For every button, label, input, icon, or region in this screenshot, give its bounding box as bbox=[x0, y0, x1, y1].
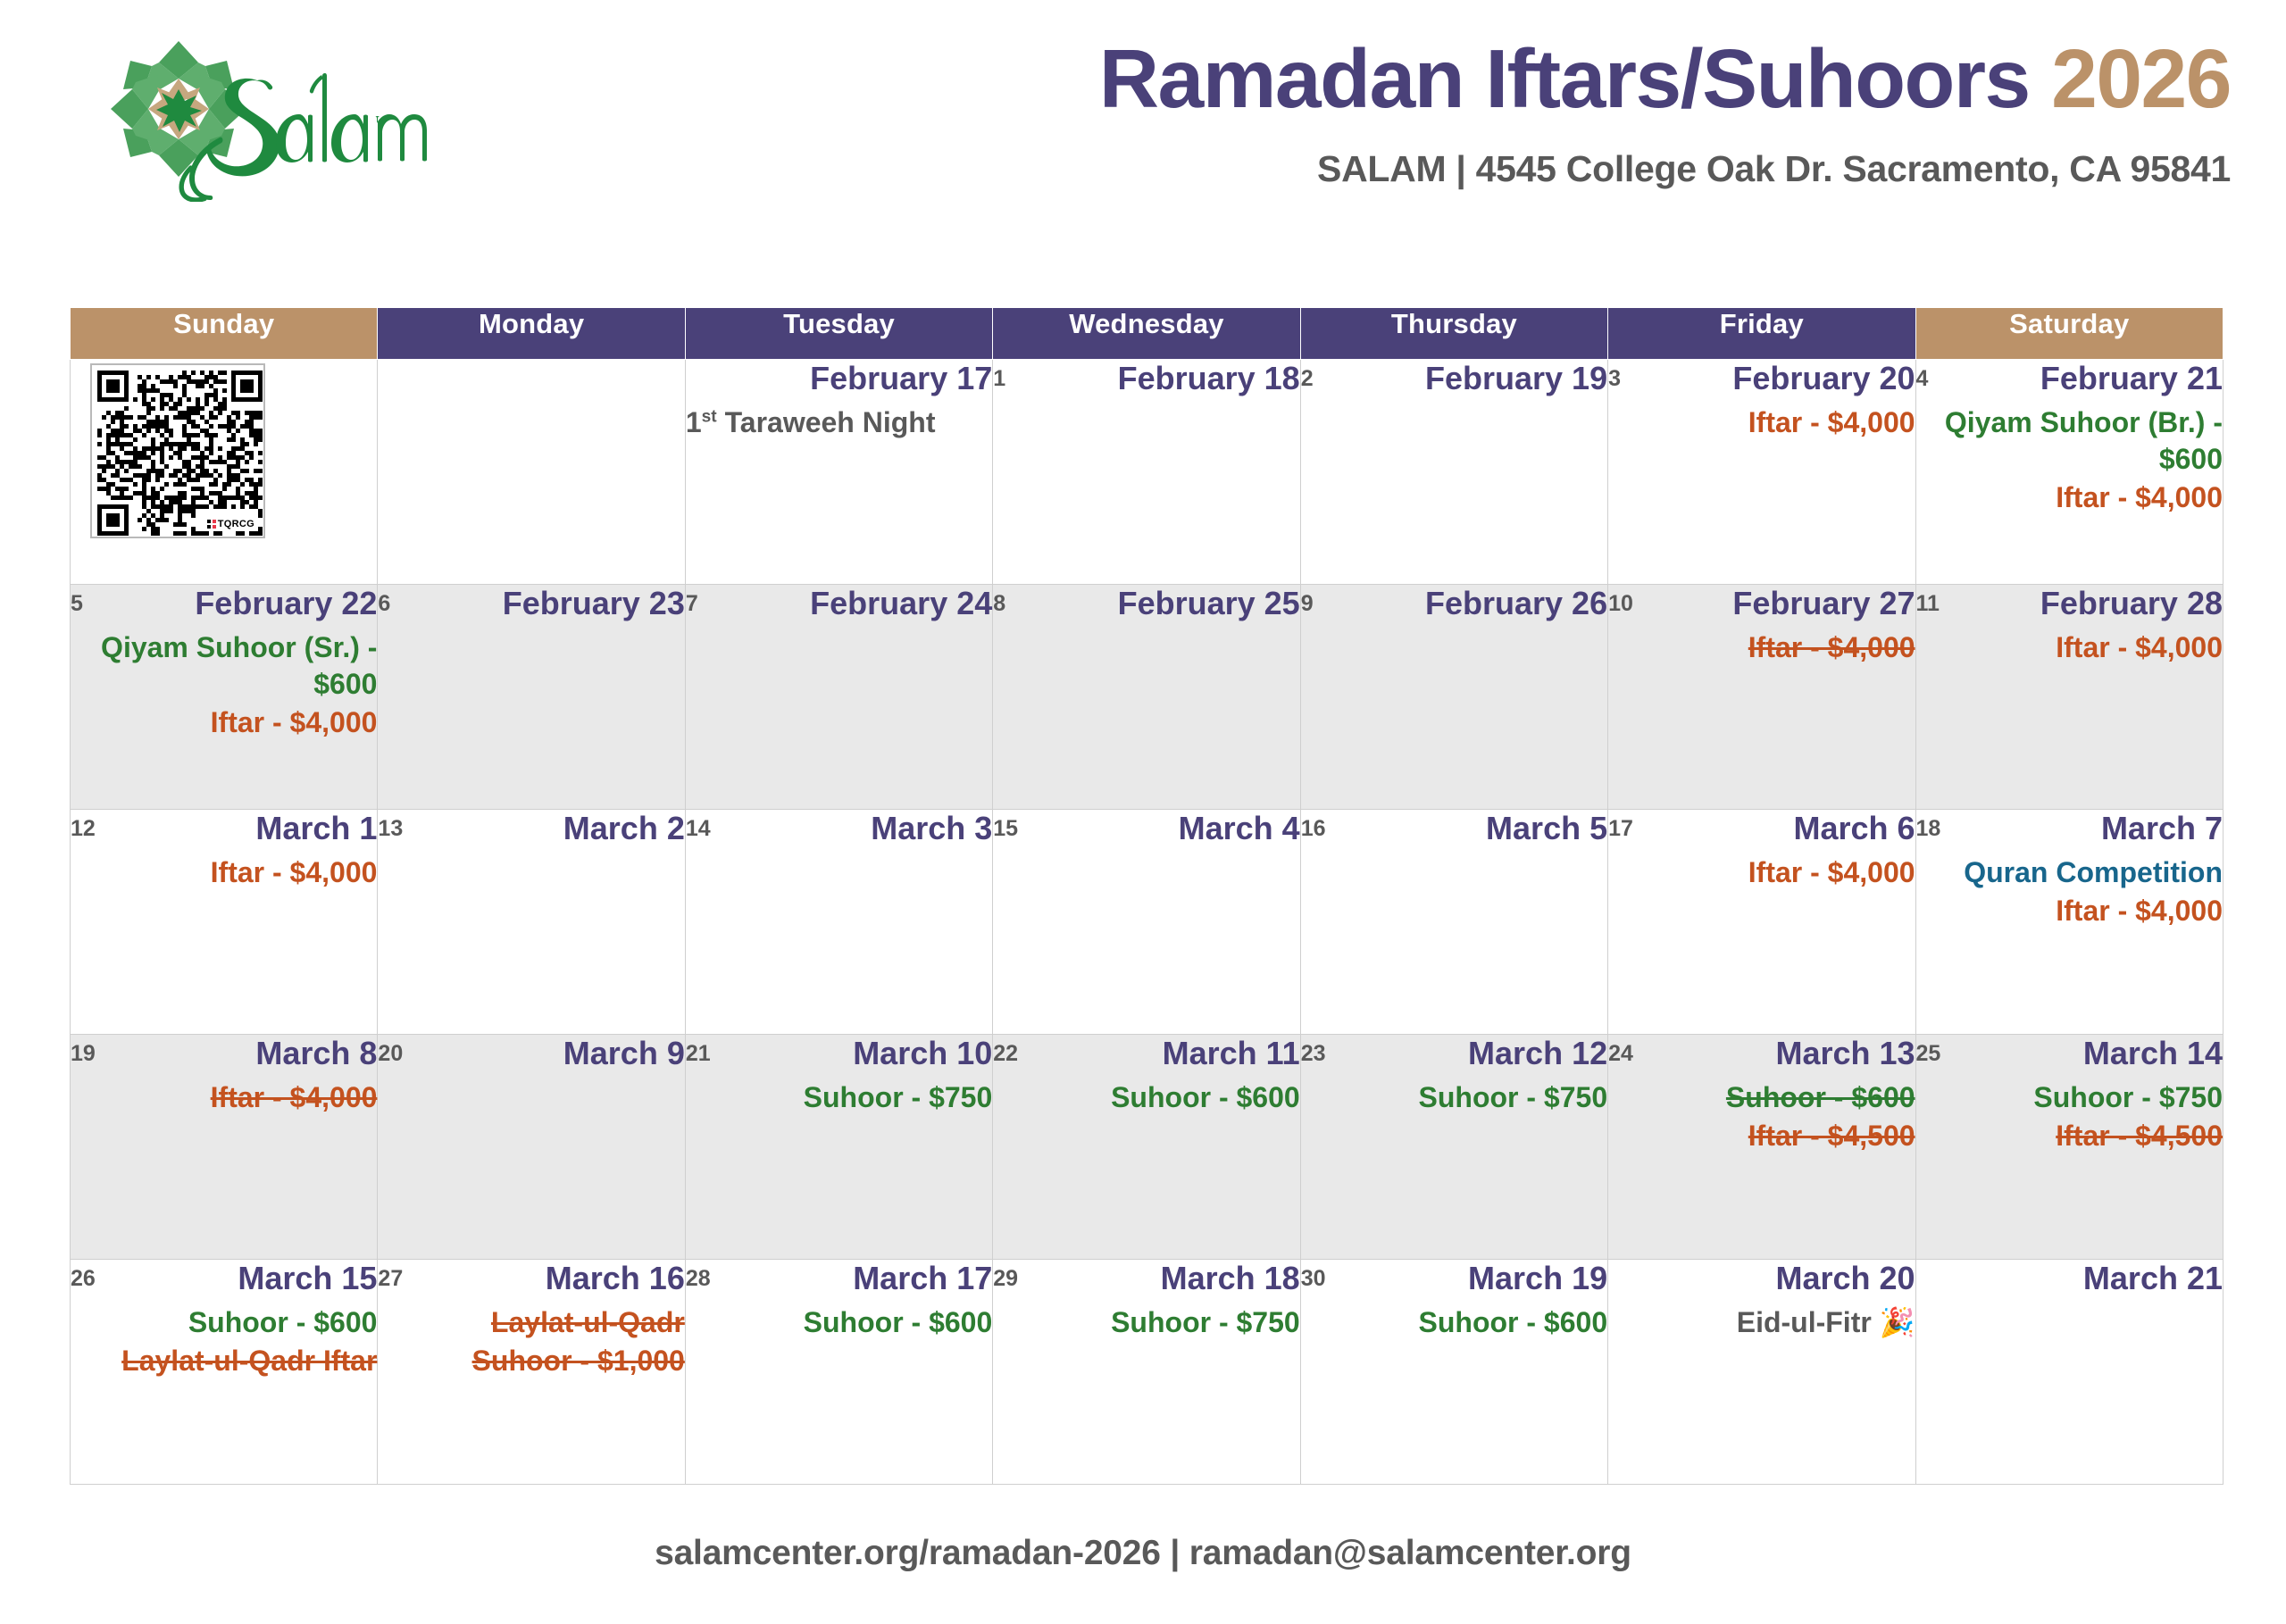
calendar-week-row: TQRCGFebruary 171st Taraweeh Night1Febru… bbox=[71, 360, 2223, 585]
calendar-body: TQRCGFebruary 171st Taraweeh Night1Febru… bbox=[71, 360, 2223, 1485]
event-iftar: Iftar - $4,500 bbox=[1916, 1118, 2223, 1154]
day-events: Suhoor - $600Iftar - $4,500 bbox=[1608, 1079, 1915, 1154]
day-cell-header: 24March 13 bbox=[1608, 1035, 1915, 1074]
event-suhoor: Qiyam Suhoor (Sr.) - $600 bbox=[71, 629, 377, 703]
ramadan-day-number: 19 bbox=[71, 1035, 96, 1068]
calendar-day-cell[interactable] bbox=[378, 360, 685, 585]
event-iftar: Iftar - $4,000 bbox=[1916, 629, 2223, 666]
event-suhoor: Suhoor - $600 bbox=[1301, 1304, 1607, 1341]
day-header-friday: Friday bbox=[1608, 308, 1915, 360]
calendar-date-label: March 14 bbox=[1940, 1035, 2223, 1071]
ramadan-day-number: 7 bbox=[686, 585, 698, 618]
event-iftar: Suhoor - $1,000 bbox=[378, 1343, 684, 1379]
calendar-day-cell[interactable]: 8February 25 bbox=[993, 585, 1300, 810]
day-cell-header: 21March 10 bbox=[686, 1035, 992, 1074]
calendar-day-cell[interactable]: 15March 4 bbox=[993, 810, 1300, 1035]
day-cell-header: 1February 18 bbox=[993, 360, 1299, 399]
venue-address: SALAM | 4545 College Oak Dr. Sacramento,… bbox=[1099, 151, 2231, 187]
event-iftar: Laylat-ul-Qadr Iftar bbox=[71, 1343, 377, 1379]
event-iftar: Iftar - $4,000 bbox=[1608, 629, 1915, 666]
calendar-day-cell[interactable]: 18March 7Quran CompetitionIftar - $4,000 bbox=[1915, 810, 2223, 1035]
calendar-date-label: March 18 bbox=[1018, 1260, 1300, 1296]
day-cell-header: 26March 15 bbox=[71, 1260, 377, 1299]
calendar-date-label: March 19 bbox=[1326, 1260, 1608, 1296]
calendar-day-cell[interactable]: 23March 12Suhoor - $750 bbox=[1300, 1035, 1607, 1260]
event-iftar: Iftar - $4,000 bbox=[1608, 404, 1915, 441]
calendar-date-label: February 19 bbox=[1314, 360, 1608, 396]
calendar-day-cell[interactable]: 13March 2 bbox=[378, 810, 685, 1035]
event-suhoor: Suhoor - $750 bbox=[686, 1079, 992, 1116]
calendar-day-cell[interactable]: 7February 24 bbox=[685, 585, 992, 810]
calendar-day-cell[interactable]: 11February 28Iftar - $4,000 bbox=[1915, 585, 2223, 810]
ramadan-day-number: 14 bbox=[686, 810, 711, 843]
calendar-day-cell[interactable]: 27March 16Laylat-ul-QadrSuhoor - $1,000 bbox=[378, 1260, 685, 1485]
ramadan-day-number: 26 bbox=[71, 1260, 96, 1293]
ramadan-day-number: 2 bbox=[1301, 360, 1314, 393]
calendar-date-label: February 17 bbox=[686, 360, 992, 396]
calendar-date-label: March 7 bbox=[1940, 810, 2223, 846]
day-cell-header: 25March 14 bbox=[1916, 1035, 2223, 1074]
day-cell-header: 13March 2 bbox=[378, 810, 684, 849]
qr-code-label: TQRCG bbox=[205, 519, 256, 530]
ramadan-calendar-page: Ramadan Iftars/Suhoors 2026 SALAM | 4545… bbox=[0, 0, 2286, 1624]
calendar-day-cell[interactable]: 6February 23 bbox=[378, 585, 685, 810]
event-iftar: Iftar - $4,000 bbox=[71, 854, 377, 891]
day-events: Iftar - $4,000 bbox=[1916, 629, 2223, 666]
day-events: Suhoor - $600 bbox=[686, 1304, 992, 1341]
day-events: Iftar - $4,000 bbox=[71, 854, 377, 891]
ramadan-day-number: 29 bbox=[993, 1260, 1018, 1293]
page-title-year: 2026 bbox=[2051, 32, 2231, 125]
calendar-day-cell[interactable]: 24March 13Suhoor - $600Iftar - $4,500 bbox=[1608, 1035, 1915, 1260]
ramadan-day-number: 11 bbox=[1916, 585, 1940, 618]
event-suhoor: Suhoor - $750 bbox=[1916, 1079, 2223, 1116]
qr-code-icon[interactable]: TQRCG bbox=[90, 363, 265, 538]
day-cell-header: 4February 21 bbox=[1916, 360, 2223, 399]
ramadan-day-number: 12 bbox=[71, 810, 96, 843]
event-note: 1st Taraweeh Night bbox=[686, 404, 992, 441]
day-cell-header bbox=[378, 360, 684, 399]
calendar-date-label: February 22 bbox=[83, 585, 378, 621]
day-header-wednesday: Wednesday bbox=[993, 308, 1300, 360]
calendar-day-cell[interactable]: 2February 19 bbox=[1300, 360, 1607, 585]
calendar-day-cell[interactable]: 28March 17Suhoor - $600 bbox=[685, 1260, 992, 1485]
day-events: 1st Taraweeh Night bbox=[686, 404, 992, 441]
day-cell-header: February 17 bbox=[686, 360, 992, 399]
event-suhoor: Suhoor - $750 bbox=[993, 1304, 1299, 1341]
day-events: Qiyam Suhoor (Br.) - $600Iftar - $4,000 bbox=[1916, 404, 2223, 516]
calendar-date-label: March 2 bbox=[403, 810, 685, 846]
calendar-day-cell[interactable]: 9February 26 bbox=[1300, 585, 1607, 810]
day-events: Iftar - $4,000 bbox=[1608, 854, 1915, 891]
day-events: Suhoor - $750Iftar - $4,500 bbox=[1916, 1079, 2223, 1154]
day-events: Suhoor - $750 bbox=[686, 1079, 992, 1116]
calendar-date-label: March 9 bbox=[403, 1035, 685, 1071]
calendar-day-cell[interactable]: 14March 3 bbox=[685, 810, 992, 1035]
calendar-day-cell[interactable]: 21March 10Suhoor - $750 bbox=[685, 1035, 992, 1260]
event-special: Quran Competition bbox=[1916, 854, 2223, 891]
day-cell-header: 28March 17 bbox=[686, 1260, 992, 1299]
calendar-date-label: February 25 bbox=[1005, 585, 1300, 621]
calendar-day-cell[interactable]: 5February 22Qiyam Suhoor (Sr.) - $600Ift… bbox=[71, 585, 378, 810]
ramadan-day-number: 1 bbox=[993, 360, 1005, 393]
calendar-date-label: February 26 bbox=[1314, 585, 1608, 621]
day-cell-header: 27March 16 bbox=[378, 1260, 684, 1299]
day-events: Eid-ul-Fitr 🎉 bbox=[1608, 1304, 1915, 1341]
calendar-day-cell[interactable]: 1February 18 bbox=[993, 360, 1300, 585]
ramadan-day-number: 10 bbox=[1608, 585, 1633, 618]
calendar-week-row: 12March 1Iftar - $4,00013March 214March … bbox=[71, 810, 2223, 1035]
day-cell-header: 19March 8 bbox=[71, 1035, 377, 1074]
day-cell-header: 6February 23 bbox=[378, 585, 684, 624]
ramadan-day-number: 16 bbox=[1301, 810, 1326, 843]
day-header-sunday: Sunday bbox=[71, 308, 378, 360]
calendar-date-label: March 6 bbox=[1633, 810, 1915, 846]
day-cell-header: 12March 1 bbox=[71, 810, 377, 849]
day-events: Suhoor - $750 bbox=[993, 1304, 1299, 1341]
page-header: Ramadan Iftars/Suhoors 2026 SALAM | 4545… bbox=[0, 0, 2286, 268]
calendar-day-cell[interactable]: 29March 18Suhoor - $750 bbox=[993, 1260, 1300, 1485]
day-events: Laylat-ul-QadrSuhoor - $1,000 bbox=[378, 1304, 684, 1379]
calendar-date-label: March 4 bbox=[1018, 810, 1300, 846]
calendar-date-label: February 27 bbox=[1633, 585, 1915, 621]
calendar-date-label: March 5 bbox=[1326, 810, 1608, 846]
calendar-header-row: SundayMondayTuesdayWednesdayThursdayFrid… bbox=[71, 308, 2223, 360]
calendar-day-cell[interactable]: 22March 11Suhoor - $600 bbox=[993, 1035, 1300, 1260]
event-iftar: Iftar - $4,000 bbox=[1608, 854, 1915, 891]
calendar-date-label: February 23 bbox=[390, 585, 685, 621]
day-cell-header: 30March 19 bbox=[1301, 1260, 1607, 1299]
event-suhoor: Suhoor - $600 bbox=[993, 1079, 1299, 1116]
ramadan-day-number: 8 bbox=[993, 585, 1005, 618]
day-cell-header: 17March 6 bbox=[1608, 810, 1915, 849]
calendar-day-cell[interactable]: 3February 20Iftar - $4,000 bbox=[1608, 360, 1915, 585]
day-cell-header: 18March 7 bbox=[1916, 810, 2223, 849]
event-suhoor: Suhoor - $600 bbox=[1608, 1079, 1915, 1116]
footer-contact: salamcenter.org/ramadan-2026 | ramadan@s… bbox=[0, 1534, 2286, 1573]
ramadan-day-number: 15 bbox=[993, 810, 1018, 843]
calendar-date-label: March 12 bbox=[1326, 1035, 1608, 1071]
day-events: Qiyam Suhoor (Sr.) - $600Iftar - $4,000 bbox=[71, 629, 377, 741]
day-header-tuesday: Tuesday bbox=[685, 308, 992, 360]
day-cell-header: 2February 19 bbox=[1301, 360, 1607, 399]
day-events: Iftar - $4,000 bbox=[1608, 629, 1915, 666]
event-iftar: Iftar - $4,000 bbox=[71, 1079, 377, 1116]
event-iftar: Iftar - $4,000 bbox=[71, 704, 377, 741]
title-block: Ramadan Iftars/Suhoors 2026 SALAM | 4545… bbox=[1099, 37, 2231, 187]
day-cell-header: 9February 26 bbox=[1301, 585, 1607, 624]
calendar-day-cell[interactable]: 17March 6Iftar - $4,000 bbox=[1608, 810, 1915, 1035]
day-events: Quran CompetitionIftar - $4,000 bbox=[1916, 854, 2223, 929]
day-cell-header: 11February 28 bbox=[1916, 585, 2223, 624]
calendar-day-cell[interactable]: 4February 21Qiyam Suhoor (Br.) - $600Ift… bbox=[1915, 360, 2223, 585]
page-title: Ramadan Iftars/Suhoors 2026 bbox=[1099, 37, 2231, 121]
day-cell-header: 10February 27 bbox=[1608, 585, 1915, 624]
ramadan-day-number: 28 bbox=[686, 1260, 711, 1293]
day-header-thursday: Thursday bbox=[1300, 308, 1607, 360]
ramadan-day-number: 21 bbox=[686, 1035, 711, 1068]
calendar-day-cell[interactable]: 12March 1Iftar - $4,000 bbox=[71, 810, 378, 1035]
day-cell-header: 15March 4 bbox=[993, 810, 1299, 849]
page-title-main: Ramadan Iftars/Suhoors bbox=[1099, 32, 2030, 125]
ramadan-day-number: 18 bbox=[1916, 810, 1941, 843]
calendar-date-label: February 21 bbox=[1928, 360, 2223, 396]
day-cell-header: 3February 20 bbox=[1608, 360, 1915, 399]
calendar-week-row: 26March 15Suhoor - $600Laylat-ul-Qadr If… bbox=[71, 1260, 2223, 1485]
event-suhoor: Suhoor - $600 bbox=[686, 1304, 992, 1341]
day-cell-header: 20March 9 bbox=[378, 1035, 684, 1074]
event-note: Eid-ul-Fitr 🎉 bbox=[1608, 1304, 1915, 1341]
day-cell-header: 29March 18 bbox=[993, 1260, 1299, 1299]
day-cell-header: 22March 11 bbox=[993, 1035, 1299, 1074]
calendar-date-label: February 18 bbox=[1005, 360, 1300, 396]
calendar-date-label: March 15 bbox=[96, 1260, 378, 1296]
day-cell-header: March 20 bbox=[1608, 1260, 1915, 1299]
event-iftar: Iftar - $4,000 bbox=[1916, 893, 2223, 929]
calendar-day-cell[interactable]: TQRCG bbox=[71, 360, 378, 585]
calendar-date-label: March 8 bbox=[96, 1035, 378, 1071]
calendar-date-label: March 10 bbox=[711, 1035, 993, 1071]
ramadan-day-number: 20 bbox=[378, 1035, 403, 1068]
day-cell-header: 7February 24 bbox=[686, 585, 992, 624]
ramadan-day-number: 17 bbox=[1608, 810, 1633, 843]
calendar-date-label: February 24 bbox=[698, 585, 993, 621]
salam-logo bbox=[82, 32, 430, 202]
ramadan-day-number: 4 bbox=[1916, 360, 1929, 393]
calendar-date-label: March 20 bbox=[1608, 1260, 1915, 1296]
ramadan-day-number: 27 bbox=[378, 1260, 403, 1293]
event-suhoor: Suhoor - $600 bbox=[71, 1304, 377, 1341]
calendar-day-cell[interactable]: March 21 bbox=[1915, 1260, 2223, 1485]
ramadan-day-number: 13 bbox=[378, 810, 403, 843]
calendar-date-label: March 3 bbox=[711, 810, 993, 846]
day-header-saturday: Saturday bbox=[1915, 308, 2223, 360]
day-header-monday: Monday bbox=[378, 308, 685, 360]
calendar-date-label: February 20 bbox=[1621, 360, 1915, 396]
calendar-day-cell[interactable]: March 20Eid-ul-Fitr 🎉 bbox=[1608, 1260, 1915, 1485]
calendar-date-label: March 16 bbox=[403, 1260, 685, 1296]
calendar-date-label: March 1 bbox=[96, 810, 378, 846]
calendar-day-cell[interactable]: 10February 27Iftar - $4,000 bbox=[1608, 585, 1915, 810]
day-cell-header: 5February 22 bbox=[71, 585, 377, 624]
day-cell-header: 16March 5 bbox=[1301, 810, 1607, 849]
ramadan-day-number: 9 bbox=[1301, 585, 1314, 618]
ramadan-day-number: 30 bbox=[1301, 1260, 1326, 1293]
day-events: Suhoor - $600Laylat-ul-Qadr Iftar bbox=[71, 1304, 377, 1379]
calendar-day-cell[interactable]: 25March 14Suhoor - $750Iftar - $4,500 bbox=[1915, 1035, 2223, 1260]
ramadan-day-number: 24 bbox=[1608, 1035, 1633, 1068]
ramadan-day-number: 6 bbox=[378, 585, 390, 618]
ordinal-suffix: st bbox=[702, 407, 717, 426]
calendar-day-cell[interactable]: 19March 8Iftar - $4,000 bbox=[71, 1035, 378, 1260]
event-suhoor: Qiyam Suhoor (Br.) - $600 bbox=[1916, 404, 2223, 478]
day-cell-header: March 21 bbox=[1916, 1260, 2223, 1299]
calendar-day-cell[interactable]: 16March 5 bbox=[1300, 810, 1607, 1035]
calendar-day-cell[interactable]: 30March 19Suhoor - $600 bbox=[1300, 1260, 1607, 1485]
day-events: Suhoor - $600 bbox=[993, 1079, 1299, 1116]
day-cell-header: 14March 3 bbox=[686, 810, 992, 849]
day-events: Suhoor - $750 bbox=[1301, 1079, 1607, 1116]
ramadan-day-number: 25 bbox=[1916, 1035, 1941, 1068]
event-iftar: Iftar - $4,500 bbox=[1608, 1118, 1915, 1154]
day-cell-header: 23March 12 bbox=[1301, 1035, 1607, 1074]
calendar-day-cell[interactable]: February 171st Taraweeh Night bbox=[685, 360, 992, 585]
logo-rosette-icon bbox=[111, 41, 246, 177]
day-cell-header: 8February 25 bbox=[993, 585, 1299, 624]
calendar-day-cell[interactable]: 26March 15Suhoor - $600Laylat-ul-Qadr If… bbox=[71, 1260, 378, 1485]
day-events: Iftar - $4,000 bbox=[1608, 404, 1915, 441]
ramadan-day-number: 22 bbox=[993, 1035, 1018, 1068]
calendar-week-row: 5February 22Qiyam Suhoor (Sr.) - $600Ift… bbox=[71, 585, 2223, 810]
day-events: Suhoor - $600 bbox=[1301, 1304, 1607, 1341]
calendar-date-label: March 11 bbox=[1018, 1035, 1300, 1071]
ramadan-day-number: 3 bbox=[1608, 360, 1621, 393]
ramadan-day-number: 5 bbox=[71, 585, 83, 618]
day-events: Iftar - $4,000 bbox=[71, 1079, 377, 1116]
event-suhoor: Suhoor - $750 bbox=[1301, 1079, 1607, 1116]
calendar-date-label: February 28 bbox=[1940, 585, 2223, 621]
calendar-date-label: March 17 bbox=[711, 1260, 993, 1296]
calendar-date-label: March 13 bbox=[1633, 1035, 1915, 1071]
ramadan-day-number: 23 bbox=[1301, 1035, 1326, 1068]
calendar-grid: SundayMondayTuesdayWednesdayThursdayFrid… bbox=[70, 307, 2223, 1485]
event-iftar: Laylat-ul-Qadr bbox=[378, 1304, 684, 1341]
event-iftar: Iftar - $4,000 bbox=[1916, 479, 2223, 516]
calendar-date-label: March 21 bbox=[1916, 1260, 2223, 1296]
calendar-week-row: 19March 8Iftar - $4,00020March 921March … bbox=[71, 1035, 2223, 1260]
calendar-day-cell[interactable]: 20March 9 bbox=[378, 1035, 685, 1260]
